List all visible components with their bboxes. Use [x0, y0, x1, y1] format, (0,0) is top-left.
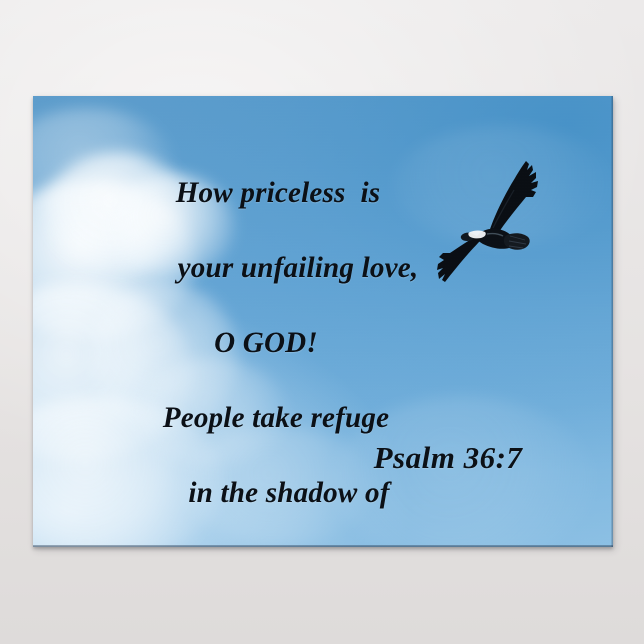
verse-line-5: in the shadow of [89, 478, 489, 508]
poster-artwork[interactable]: How priceless is your unfailing love, O … [33, 96, 613, 547]
poster-bottom-edge [33, 545, 613, 547]
verse-line-2: your unfailing love, [107, 253, 489, 283]
poster-right-edge [611, 96, 613, 547]
verse-line-4: People take refuge [64, 403, 489, 433]
scripture-citation: Psalm 36:7 [333, 440, 563, 476]
verse-text-block: How priceless is your unfailing love, O … [75, 146, 495, 547]
poster-scene: How priceless is your unfailing love, O … [0, 0, 644, 644]
verse-line-1: How priceless is [68, 178, 489, 208]
verse-line-3: O GOD! [44, 328, 488, 358]
